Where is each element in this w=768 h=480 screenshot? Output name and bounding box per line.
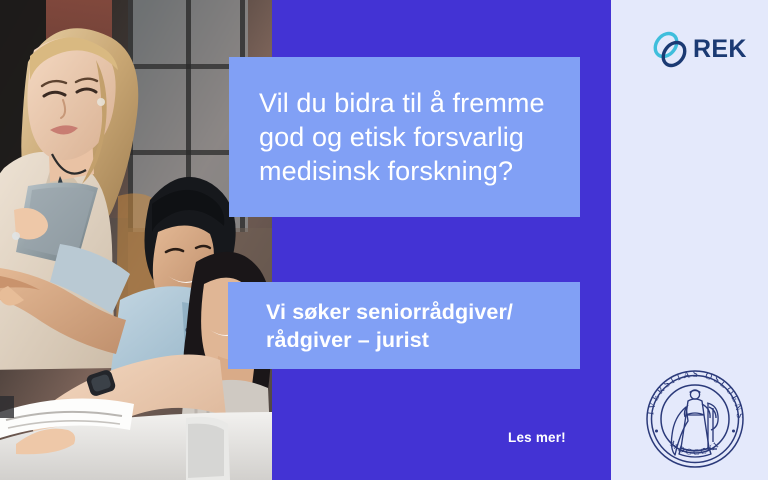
rek-logo[interactable]: REK	[650, 27, 742, 72]
job-role-line-2: rådgiver – jurist	[266, 326, 542, 354]
rek-interlocking-rings-icon	[650, 28, 692, 72]
job-role-textbox: Vi søker seniorrådgiver/ rådgiver – juri…	[228, 282, 580, 369]
headline-line-3: medisinsk forskning?	[259, 154, 550, 188]
headline-textbox: Vil du bidra til å fremme god og etisk f…	[229, 57, 580, 217]
headline-line-2: god og etisk forsvarlig	[259, 120, 550, 154]
banner-ad[interactable]: Vil du bidra til å fremme god og etisk f…	[0, 0, 768, 480]
uio-seal: UNIVERSITAS OSLOENSIS MDCCCXI	[639, 363, 751, 475]
rek-wordmark: REK	[693, 37, 747, 62]
job-role-line-1: Vi søker seniorrådgiver/	[266, 298, 542, 326]
read-more-link[interactable]: Les mer!	[508, 430, 566, 445]
headline-line-1: Vil du bidra til å fremme	[259, 86, 550, 120]
